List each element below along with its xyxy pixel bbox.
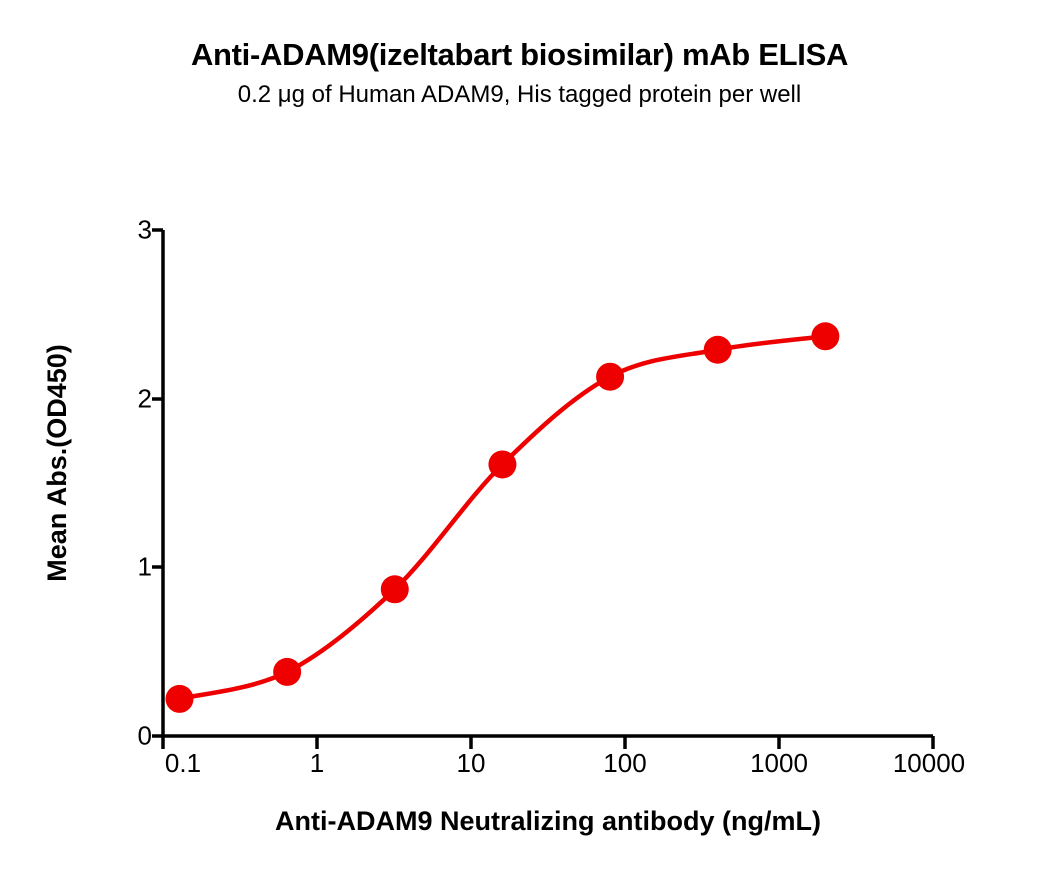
data-point-4 [596,363,624,391]
plot-svg [103,210,993,770]
data-point-2 [381,575,409,603]
data-curve [180,336,826,699]
chart-subtitle: 0.2 μg of Human ADAM9, His tagged protei… [0,78,1039,112]
data-point-0 [166,685,194,713]
elisa-chart-figure: Anti-ADAM9(izeltabart biosimilar) mAb EL… [0,0,1039,886]
plot-area [163,230,933,736]
page-title: Anti-ADAM9(izeltabart biosimilar) mAb EL… [0,36,1039,74]
data-point-5 [704,336,732,364]
y-axis-title: Mean Abs.(OD450) [26,183,88,743]
x-axis-title: Anti-ADAM9 Neutralizing antibody (ng/mL) [163,806,933,837]
data-point-markers [166,322,840,713]
data-point-6 [811,322,839,350]
title-block: Anti-ADAM9(izeltabart biosimilar) mAb EL… [0,36,1039,112]
data-point-3 [488,450,516,478]
data-point-1 [273,658,301,686]
